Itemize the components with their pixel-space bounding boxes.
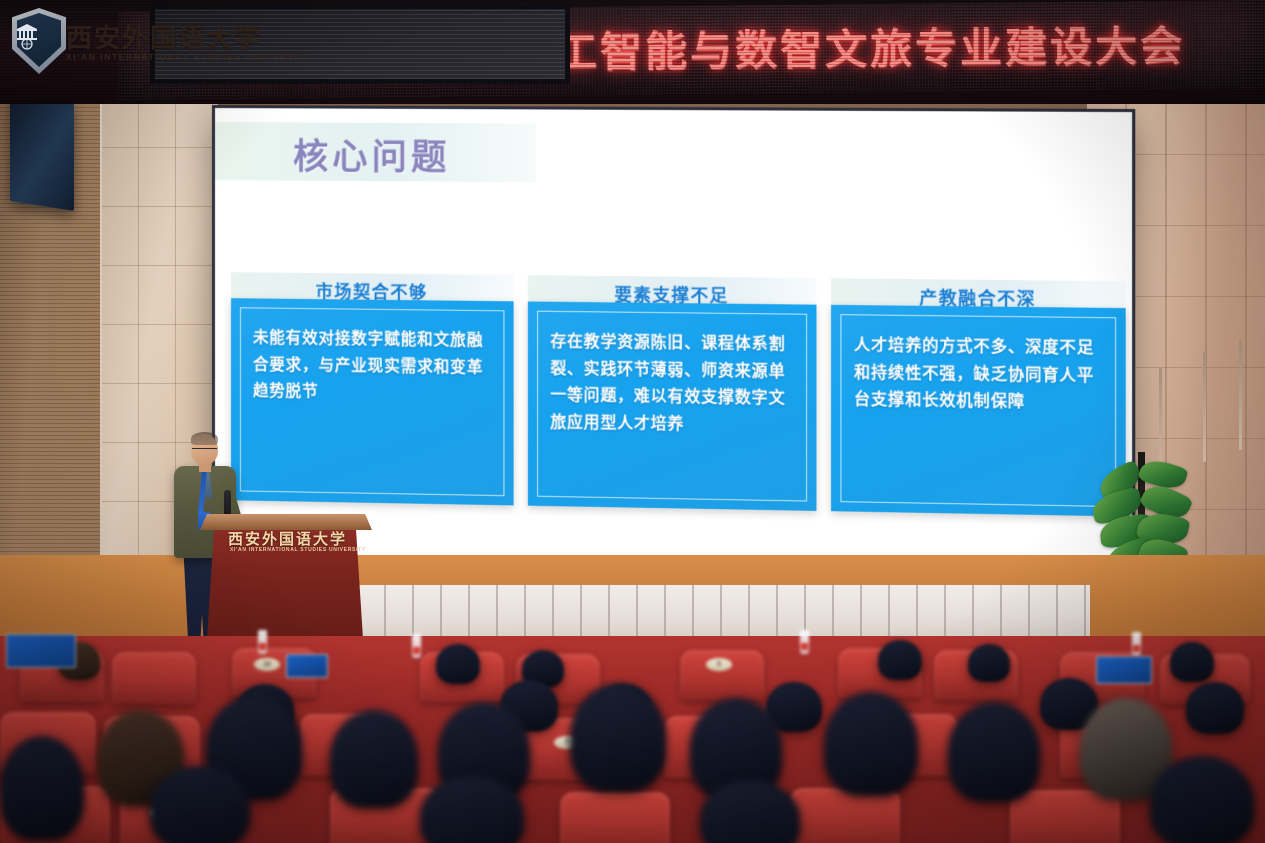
water-bottle: [412, 634, 421, 658]
shield-emblem-icon: [14, 20, 40, 50]
conference-photo: 全国旅游教育人工智能与数智文旅专业建设大会 西安外国语大学 XI'AN INTE…: [0, 0, 1265, 843]
audience-head: [1150, 756, 1254, 843]
stage-front-panel: [330, 585, 1090, 641]
water-bottle: [800, 630, 809, 654]
issue-card-2: 要素支撑不足 存在教学资源陈旧、课程体系割裂、实践环节薄弱、师资来源单一等问题，…: [528, 275, 817, 278]
projection-screen: 核心问题 市场契合不够 未能有效对接数字赋能和文旅融合要求，与产业现实需求和变革…: [215, 108, 1132, 572]
laptop-screen: [1096, 656, 1152, 684]
seat: [790, 788, 900, 843]
audience-head: [1186, 682, 1244, 734]
issue-card-1-body: 未能有效对接数字赋能和文旅融合要求，与产业现实需求和变革趋势脱节: [231, 298, 514, 505]
seat-number-plaque: 5: [706, 658, 732, 671]
audience-head: [150, 766, 250, 843]
issue-card-1-text: 未能有效对接数字赋能和文旅融合要求，与产业现实需求和变革趋势脱节: [253, 324, 493, 408]
issue-card-1: 市场契合不够 未能有效对接数字赋能和文旅融合要求，与产业现实需求和变革趋势脱节: [231, 272, 514, 275]
seat: [112, 652, 196, 704]
presentation-slide: 核心问题 市场契合不够 未能有效对接数字赋能和文旅融合要求，与产业现实需求和变革…: [215, 108, 1132, 572]
audience-head: [1170, 642, 1214, 682]
audience-head: [700, 780, 800, 843]
podium-name-cn: 西安外国语大学: [228, 528, 347, 549]
university-name-cn: 西安外国语大学: [66, 18, 262, 55]
presenter-hair: [191, 432, 218, 445]
issue-card-3-body: 人才培养的方式不多、深度不足和持续性不强，缺乏协同育人平台支撑和长效机制保障: [831, 305, 1126, 517]
slide-title: 核心问题: [293, 128, 450, 180]
issue-card-2-text: 存在教学资源陈旧、课程体系割裂、实践环节薄弱、师资来源单一等问题，难以有效支撑数…: [550, 328, 795, 440]
seat-number-plaque: 10: [254, 658, 280, 671]
issue-card-3: 产教融合不深 人才培养的方式不多、深度不足和持续性不强，缺乏协同育人平台支撑和长…: [831, 278, 1126, 281]
presenter-glasses: [192, 448, 217, 453]
laptop-screen: [286, 654, 328, 678]
audience-head: [968, 644, 1010, 682]
audience-head: [878, 640, 922, 680]
audience-head: [0, 736, 84, 840]
audience-head: [948, 702, 1040, 802]
issue-card-3-text: 人才培养的方式不多、深度不足和持续性不强，缺乏协同育人平台支撑和长效机制保障: [854, 332, 1104, 417]
wall-speaker: [10, 91, 74, 211]
university-name-en: XI'AN INTERNATIONAL STUDIES UNIVERSITY: [66, 52, 313, 62]
audience-head: [570, 684, 666, 792]
water-bottle: [258, 630, 267, 654]
audience-head: [436, 644, 480, 684]
podium-name-en: XI'AN INTERNATIONAL STUDIES UNIVERSITY: [230, 547, 366, 553]
water-bottle: [1132, 632, 1141, 656]
audience-head: [330, 710, 418, 808]
issue-card-2-body: 存在教学资源陈旧、课程体系割裂、实践环节薄弱、师资来源单一等问题，难以有效支撑数…: [528, 301, 817, 510]
laptop-screen: [6, 634, 76, 668]
audience-head: [824, 692, 918, 796]
seat: [560, 792, 670, 843]
audience-seating-area: 10 8 5 1 9 7 3 12: [0, 636, 1265, 843]
